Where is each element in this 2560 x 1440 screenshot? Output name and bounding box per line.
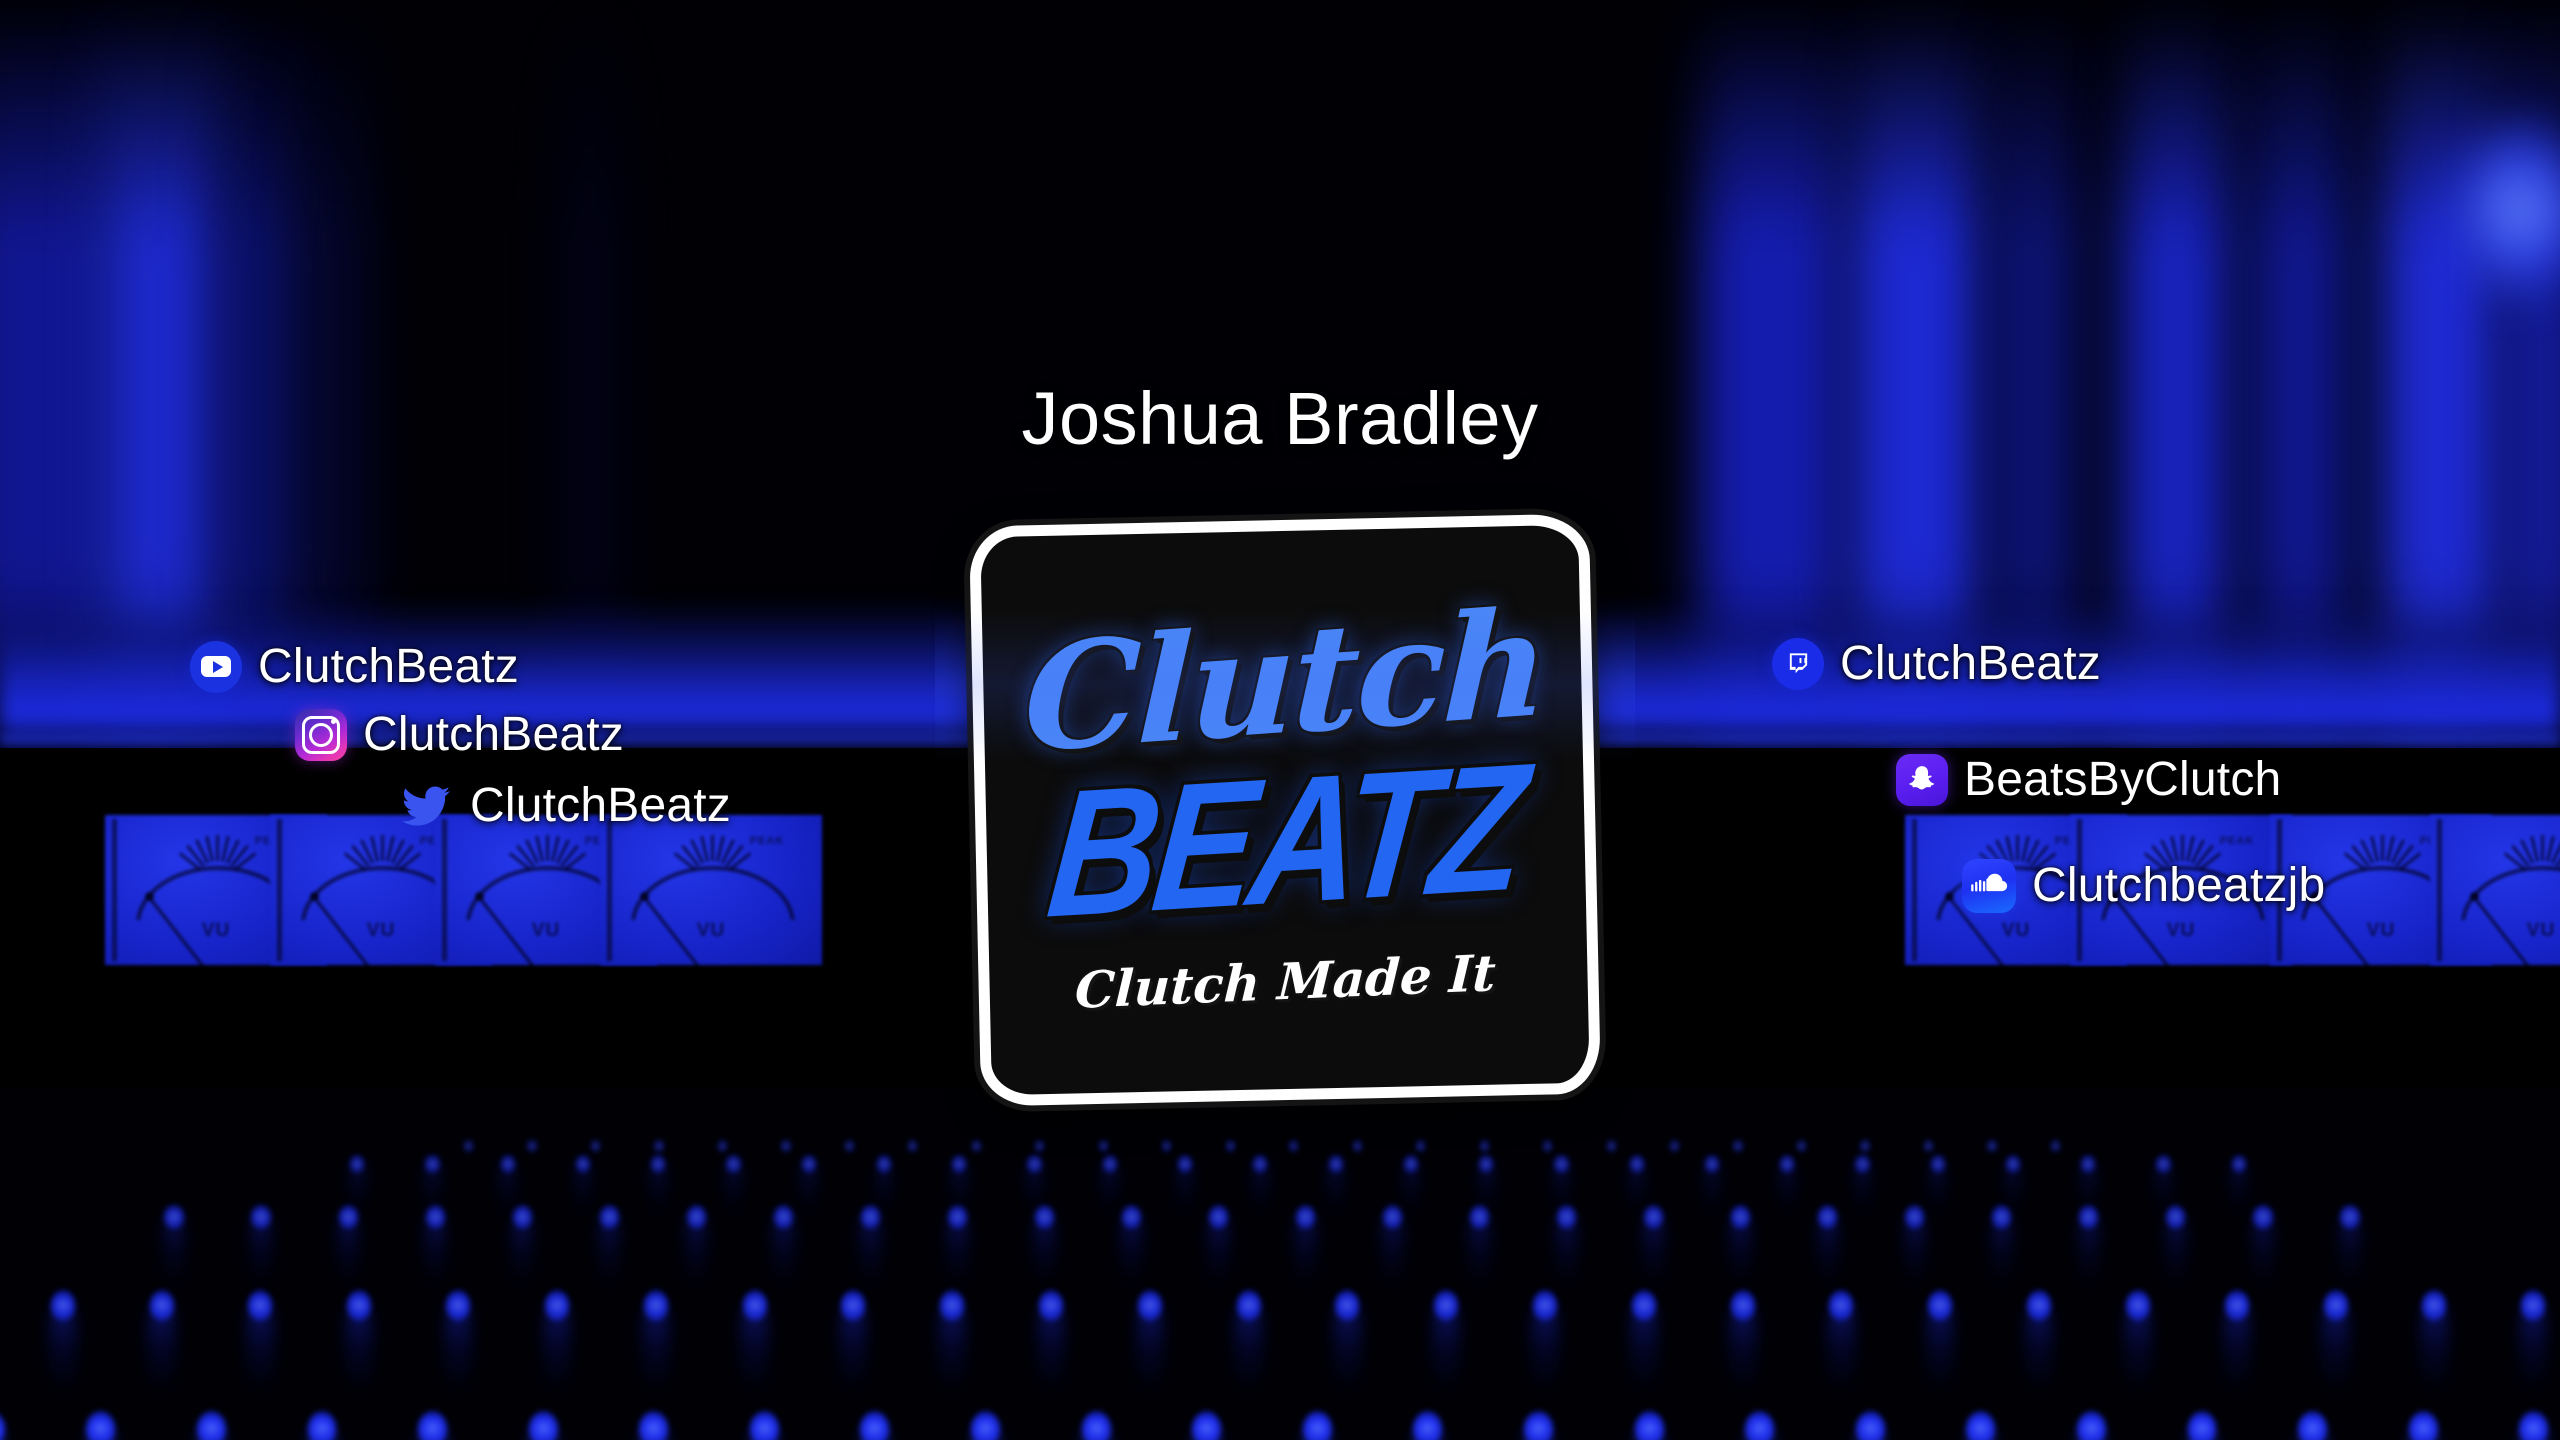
vu-meter-label: VU (600, 920, 822, 942)
social-handle-twitch: ClutchBeatz (1840, 636, 2101, 691)
console-fader (1926, 1303, 1954, 1393)
console-fader (685, 1215, 708, 1287)
vu-meter-label: VU (2430, 920, 2560, 942)
console-led (1416, 1140, 1425, 1152)
console-fader (2339, 1215, 2362, 1287)
console-fader (49, 1303, 77, 1393)
vu-meter: VUPEAK (600, 815, 822, 965)
console-fader (1729, 1215, 1752, 1287)
console-led (1543, 1140, 1552, 1152)
console-led (654, 1140, 663, 1152)
console-fader (337, 1215, 360, 1287)
console-fader (598, 1215, 621, 1287)
vu-meter-pivot (310, 892, 319, 901)
brand-logo: Clutch BEATZ Clutch Made It (975, 520, 1595, 1100)
console-fader (859, 1215, 882, 1287)
vu-meter-pivot (145, 892, 154, 901)
console-fader (575, 1163, 592, 1217)
console-fader (946, 1215, 969, 1287)
vu-meter: VUPEAK (2430, 815, 2560, 965)
console-fader (2420, 1303, 2448, 1393)
console-fader (800, 1163, 817, 1217)
console-led (464, 1140, 473, 1152)
console-led (591, 1140, 600, 1152)
console-fader (1827, 1303, 1855, 1393)
console-led (1353, 1140, 1362, 1152)
snapchat-icon (1896, 754, 1948, 806)
console-fader (1817, 1215, 1840, 1287)
console-fader (1101, 1163, 1118, 1217)
console-fader (1033, 1215, 1056, 1287)
console-led (1670, 1140, 1679, 1152)
console-fader (740, 1303, 768, 1393)
vu-meter-pivot (640, 892, 649, 901)
console-led (1987, 1140, 1996, 1152)
console-fader (1991, 1215, 2014, 1287)
console-fader (1234, 1303, 1262, 1393)
console-fader (1037, 1303, 1065, 1393)
vu-meter-label: VU (2070, 920, 2292, 942)
console-fader (1555, 1215, 1578, 1287)
page-title: Joshua Bradley (0, 382, 2560, 456)
social-handle-soundcloud: Clutchbeatzjb (2032, 858, 2325, 913)
console-fader (2223, 1303, 2251, 1393)
console-led (1480, 1140, 1489, 1152)
vu-meter-peak-label: PEAK (2220, 835, 2255, 847)
console-led (1924, 1140, 1933, 1152)
console-fader (1252, 1163, 1269, 1217)
console-fader (650, 1163, 667, 1217)
console-led (527, 1140, 536, 1152)
vu-meter-tick (2541, 835, 2544, 861)
vu-meter-pivot (1945, 892, 1954, 901)
console-fader (1929, 1163, 1946, 1217)
console-fader (1468, 1215, 1491, 1287)
social-item-soundcloud[interactable]: Clutchbeatzjb (1962, 858, 2325, 913)
social-item-snapchat[interactable]: BeatsByClutch (1896, 752, 2281, 807)
console-fader (543, 1303, 571, 1393)
console-fader (642, 1303, 670, 1393)
console-fader (246, 1303, 274, 1393)
console-fader (163, 1215, 186, 1287)
console-fader (1904, 1215, 1927, 1287)
vu-meter-tick (711, 835, 714, 861)
console-led (781, 1140, 790, 1152)
console-led (1099, 1140, 1108, 1152)
console-led (1860, 1140, 1869, 1152)
logo-tagline: Clutch Made It (1073, 943, 1496, 1020)
console-fader (725, 1163, 742, 1217)
twitter-icon (398, 782, 454, 830)
console-fader (511, 1215, 534, 1287)
console-fader (2519, 1303, 2547, 1393)
console-led (1733, 1140, 1742, 1152)
console-fader (2124, 1303, 2152, 1393)
console-fader (876, 1163, 893, 1217)
console-fader (1177, 1163, 1194, 1217)
console-led (1797, 1140, 1806, 1152)
console-fader (2025, 1303, 2053, 1393)
console-fader (1628, 1163, 1645, 1217)
social-item-instagram[interactable]: ClutchBeatz (295, 707, 624, 762)
console-led (1289, 1140, 1298, 1152)
console-fader (1207, 1215, 1230, 1287)
console-fader (938, 1303, 966, 1393)
console-fader (499, 1163, 516, 1217)
vu-meter-tick (2381, 835, 2384, 861)
social-item-twitter[interactable]: ClutchBeatz (398, 778, 731, 833)
console-fader (839, 1303, 867, 1393)
console-fader (1642, 1215, 1665, 1287)
console-led (1035, 1140, 1044, 1152)
console-led (718, 1140, 727, 1152)
console-fader (2252, 1215, 2275, 1287)
social-handle-youtube: ClutchBeatz (258, 639, 519, 694)
vu-meter-pivot (475, 892, 484, 901)
console-fader (1120, 1215, 1143, 1287)
console-led (972, 1140, 981, 1152)
console-fader (772, 1215, 795, 1287)
console-fader (2078, 1215, 2101, 1287)
console-fader (444, 1303, 472, 1393)
console-led (1162, 1140, 1171, 1152)
console-fader (2230, 1163, 2247, 1217)
vu-meter-tick (546, 835, 549, 861)
vu-meter-tick (381, 835, 384, 861)
console-fader (345, 1303, 373, 1393)
stream-overlay-stage: VUPEAKVUPEAKVUPEAKVUPEAKVUPEAKVUPEAKVUPE… (0, 0, 2560, 1440)
console-fader (1294, 1215, 1317, 1287)
console-fader (147, 1303, 175, 1393)
social-handle-twitter: ClutchBeatz (470, 778, 731, 833)
twitch-icon (1772, 638, 1824, 690)
console-fader (1729, 1303, 1757, 1393)
vu-meter-peak-label: PEAK (750, 835, 785, 847)
console-fader (1403, 1163, 1420, 1217)
console-fader (2165, 1215, 2188, 1287)
console-fader (1779, 1163, 1796, 1217)
console-led (1607, 1140, 1616, 1152)
console-led (845, 1140, 854, 1152)
social-item-youtube[interactable]: ClutchBeatz (190, 639, 519, 694)
soundcloud-icon (1962, 859, 2016, 913)
social-item-twitch[interactable]: ClutchBeatz (1772, 636, 2101, 691)
console-fader (424, 1215, 447, 1287)
logo-word-beatz: BEATZ (1042, 746, 1527, 937)
instagram-icon (295, 709, 347, 761)
social-handle-snapchat: BeatsByClutch (1964, 752, 2281, 807)
vu-meter-tick (216, 835, 219, 861)
vu-meter-pivot (2470, 892, 2479, 901)
console-led (2051, 1140, 2060, 1152)
console-fader (1333, 1303, 1361, 1393)
vu-meter-arc (2461, 866, 2560, 965)
console-fader (2321, 1303, 2349, 1393)
console-fader (250, 1215, 273, 1287)
youtube-icon (190, 641, 242, 693)
console-fader (1432, 1303, 1460, 1393)
console-led (908, 1140, 917, 1152)
console-fader (1136, 1303, 1164, 1393)
console-fader (1327, 1163, 1344, 1217)
console-fader (1854, 1163, 1871, 1217)
console-led (1226, 1140, 1235, 1152)
social-handle-instagram: ClutchBeatz (363, 707, 624, 762)
console-fader (1531, 1303, 1559, 1393)
mixing-console-backdrop (0, 1085, 2560, 1440)
console-fader (1704, 1163, 1721, 1217)
console-fader (1381, 1215, 1404, 1287)
console-fader (1630, 1303, 1658, 1393)
